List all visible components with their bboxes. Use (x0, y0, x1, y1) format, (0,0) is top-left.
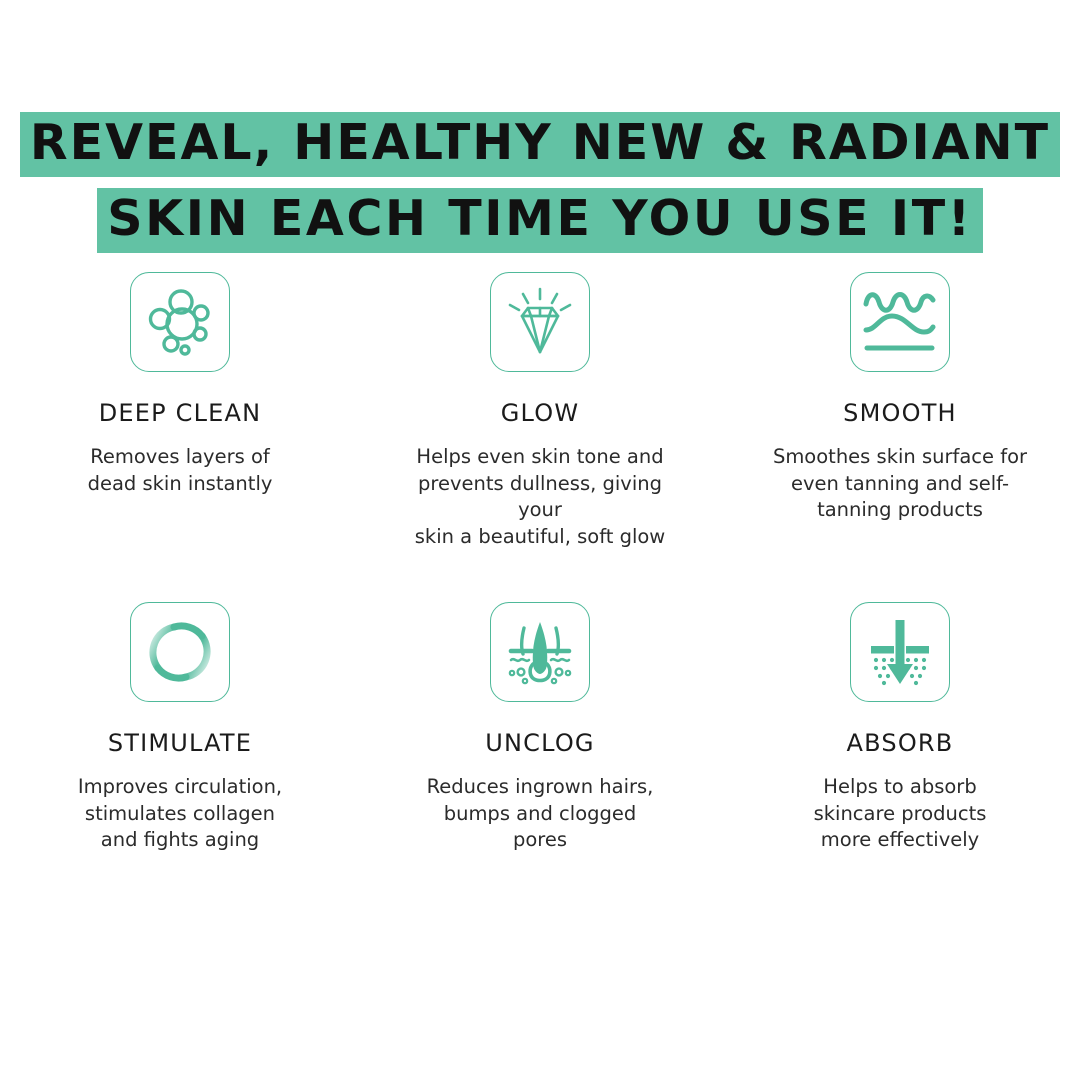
headline-line-1: REVEAL, HEALTHY NEW & RADIANT (0, 112, 1080, 177)
icon-box-stimulate (130, 602, 230, 702)
icon-box-deep-clean (130, 272, 230, 372)
headline: REVEAL, HEALTHY NEW & RADIANT SKIN EACH … (0, 112, 1080, 253)
smoothing-waves-icon (862, 286, 938, 358)
feature-title: ABSORB (847, 729, 954, 757)
feature-item-smooth: SMOOTH Smoothes skin surface for even ta… (720, 272, 1080, 550)
icon-box-glow (490, 272, 590, 372)
bubbles-icon (144, 286, 216, 358)
feature-title: UNCLOG (485, 729, 594, 757)
headline-line-1-text: REVEAL, HEALTHY NEW & RADIANT (20, 112, 1060, 177)
icon-box-unclog (490, 602, 590, 702)
icon-box-absorb (850, 602, 950, 702)
infographic-page: REVEAL, HEALTHY NEW & RADIANT SKIN EACH … (0, 0, 1080, 1080)
headline-line-2-text: SKIN EACH TIME YOU USE IT! (97, 188, 982, 253)
feature-title: SMOOTH (843, 399, 957, 427)
hair-follicle-icon (503, 616, 577, 688)
icon-box-smooth (850, 272, 950, 372)
feature-item-deep-clean: DEEP CLEAN Removes layers of dead skin i… (0, 272, 360, 550)
diamond-sparkle-icon (504, 286, 576, 358)
absorb-arrow-icon (863, 616, 937, 688)
feature-description: Improves circulation, stimulates collage… (78, 774, 282, 854)
feature-description: Removes layers of dead skin instantly (88, 444, 273, 497)
feature-title: GLOW (501, 399, 580, 427)
headline-line-2: SKIN EACH TIME YOU USE IT! (0, 188, 1080, 253)
feature-item-absorb: ABSORB Helps to absorb skincare products… (720, 602, 1080, 854)
feature-grid: DEEP CLEAN Removes layers of dead skin i… (0, 272, 1080, 854)
feature-description: Smoothes skin surface for even tanning a… (773, 444, 1027, 524)
feature-description: Helps to absorb skincare products more e… (814, 774, 987, 854)
feature-title: STIMULATE (108, 729, 252, 757)
feature-item-stimulate: STIMULATE Improves circulation, stimulat… (0, 602, 360, 854)
feature-description: Reduces ingrown hairs, bumps and clogged… (427, 774, 654, 854)
feature-title: DEEP CLEAN (99, 399, 262, 427)
feature-item-unclog: UNCLOG Reduces ingrown hairs, bumps and … (360, 602, 720, 854)
feature-item-glow: GLOW Helps even skin tone and prevents d… (360, 272, 720, 550)
feature-description: Helps even skin tone and prevents dullne… (404, 444, 676, 550)
circulation-arc-icon (144, 616, 216, 688)
